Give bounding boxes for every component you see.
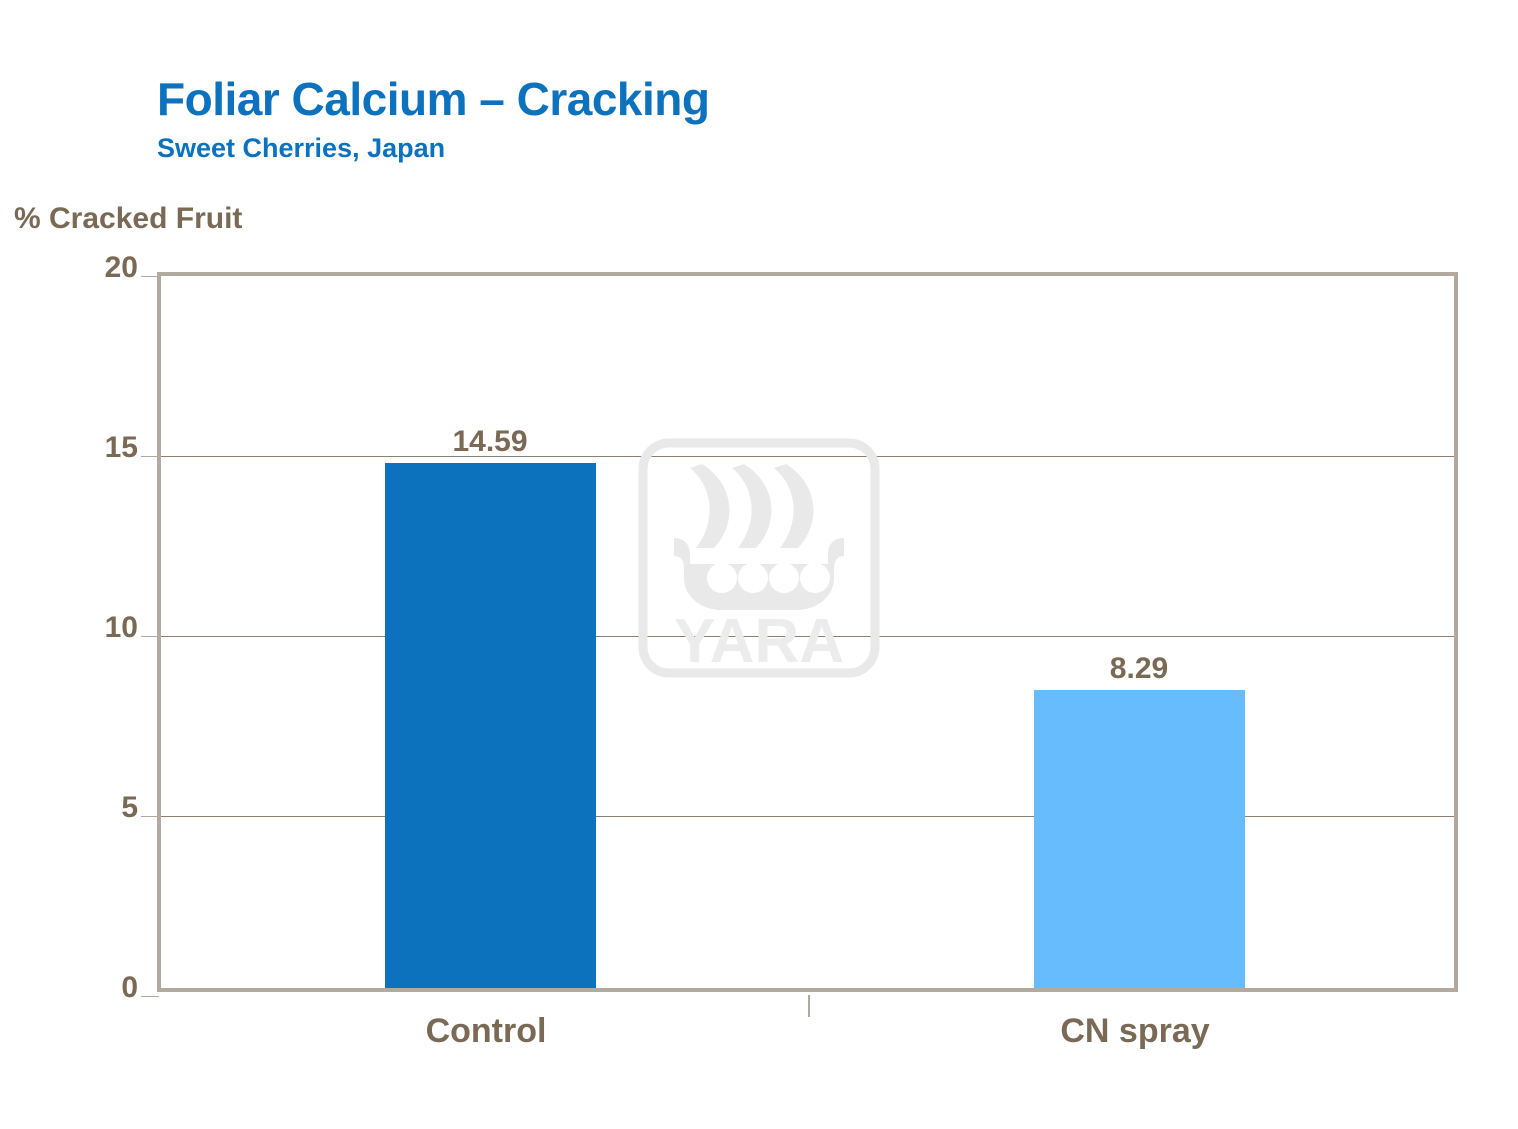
y-axis-tick-label-15: 15 [105,431,138,465]
y-axis-tick-20 [141,276,159,277]
y-axis-tick-label-20: 20 [105,251,138,285]
y-axis-tick-labels: 05101520 [68,272,138,992]
bar-cn-spray[interactable] [1034,690,1245,988]
x-axis-label-cn-spray: CN spray [935,1012,1335,1051]
bar-value-label-cn-spray: 8.29 [1034,652,1245,686]
y-axis-tick-15 [141,456,159,457]
y-axis-tick-label-5: 5 [121,791,138,825]
slide-canvas: Foliar Calcium – Cracking Sweet Cherries… [0,0,1518,1129]
y-axis-tick-5 [141,816,159,817]
x-axis-category-divider-tick [808,995,810,1017]
y-axis-tick-label-0: 0 [121,971,138,1005]
gridline-y-10 [161,636,1454,637]
gridline-y-15 [161,456,1454,457]
page-subtitle: Sweet Cherries, Japan [157,133,445,164]
x-axis-label-control: Control [286,1012,686,1051]
bar-value-label-control: 14.59 [385,425,596,459]
y-axis-tick-10 [141,636,159,637]
page-title: Foliar Calcium – Cracking [157,72,709,126]
y-axis-tick-0 [141,996,159,997]
y-axis-tick-label-10: 10 [105,611,138,645]
bar-control[interactable] [385,463,596,988]
gridline-y-5 [161,816,1454,817]
plot-area: 14.598.29 [157,272,1458,992]
y-axis-title: % Cracked Fruit [14,202,242,236]
